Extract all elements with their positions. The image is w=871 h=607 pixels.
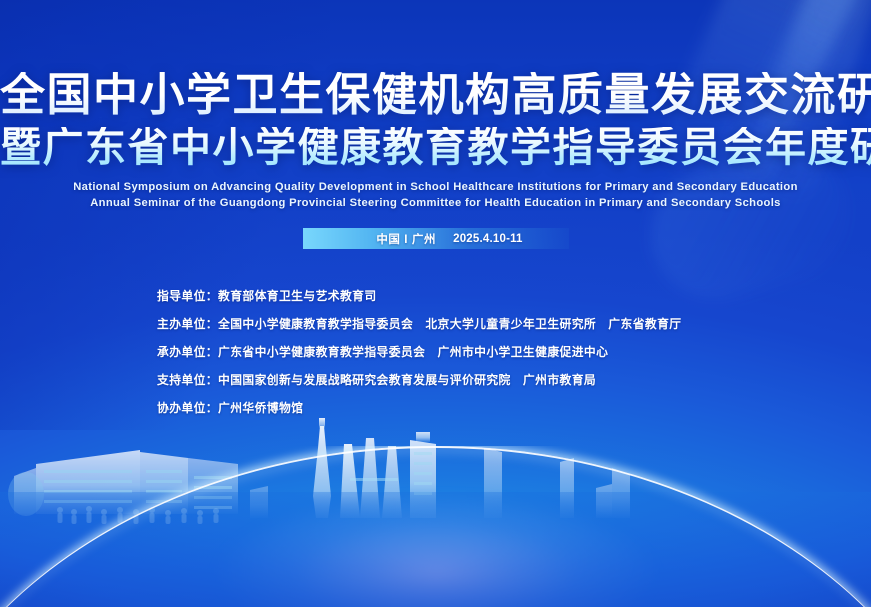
organizer-values: 中国国家创新与发展战略研究会教育发展与评价研究院 广州市教育局: [218, 371, 596, 388]
organizer-values: 全国中小学健康教育教学指导委员会 北京大学儿童青少年卫生研究所 广东省教育厅: [218, 315, 681, 332]
organizer-label: 主办单位：: [157, 315, 218, 332]
list-item: 指导单位： 教育部体育卫生与艺术教育司: [0, 287, 871, 304]
main-title-line-1: 全国中小学卫生保健机构高质量发展交流研讨活动: [0, 72, 871, 117]
english-subtitle-line-2: Annual Seminar of the Guangdong Provinci…: [0, 196, 871, 212]
location-date-badge: 中国 I 广州 2025.4.10-11: [303, 228, 569, 249]
organizer-label: 承办单位：: [157, 343, 218, 360]
organizer-label: 协办单位：: [157, 399, 218, 416]
english-subtitle-block: National Symposium on Advancing Quality …: [0, 180, 871, 211]
organizer-label: 支持单位：: [157, 371, 218, 388]
organizer-label: 指导单位：: [157, 287, 218, 304]
poster-title-block: 全国中小学卫生保健机构高质量发展交流研讨活动 暨广东省中小学健康教育教学指导委员…: [0, 72, 871, 168]
list-item: 支持单位： 中国国家创新与发展战略研究会教育发展与评价研究院 广州市教育局: [0, 371, 871, 388]
list-item: 协办单位： 广州华侨博物馆: [0, 399, 871, 416]
organizer-values: 教育部体育卫生与艺术教育司: [218, 287, 377, 304]
badge-city-label: 中国 I 广州: [376, 231, 436, 247]
english-subtitle-line-1: National Symposium on Advancing Quality …: [0, 180, 871, 196]
list-item: 主办单位： 全国中小学健康教育教学指导委员会 北京大学儿童青少年卫生研究所 广东…: [0, 315, 871, 332]
organizer-values: 广东省中小学健康教育教学指导委员会 广州市中小学卫生健康促进中心: [218, 343, 608, 360]
organizer-list: 指导单位： 教育部体育卫生与艺术教育司 主办单位： 全国中小学健康教育教学指导委…: [0, 287, 871, 427]
organizer-values: 广州华侨博物馆: [218, 399, 303, 416]
list-item: 承办单位： 广东省中小学健康教育教学指导委员会 广州市中小学卫生健康促进中心: [0, 343, 871, 360]
main-title-line-2: 暨广东省中小学健康教育教学指导委员会年度研讨活动: [0, 127, 871, 168]
conference-poster: 全国中小学卫生保健机构高质量发展交流研讨活动 暨广东省中小学健康教育教学指导委员…: [0, 0, 871, 607]
badge-date-label: 2025.4.10-11: [453, 233, 523, 245]
